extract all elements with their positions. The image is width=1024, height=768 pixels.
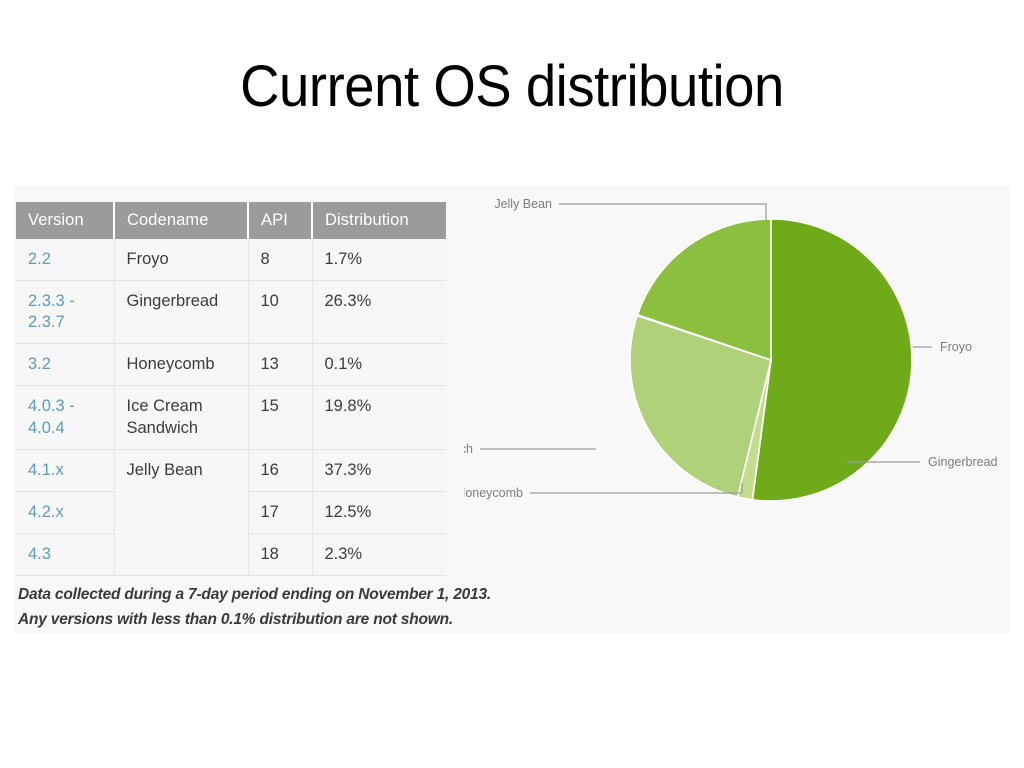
table-row: 2.3.3 - 2.3.7 Gingerbread 10 26.3%	[16, 281, 446, 344]
cell-codename	[114, 533, 248, 575]
cell-distribution: 26.3%	[312, 281, 446, 344]
cell-api: 10	[248, 281, 312, 344]
version-line-1: 4.2.x	[28, 502, 114, 523]
pie-svg: Jelly Bean Ice Cream Sandwich Honeycomb …	[464, 186, 1010, 526]
cell-api: 16	[248, 449, 312, 491]
cell-codename: Froyo	[114, 239, 248, 281]
table-header-row: Version Codename API Distribution	[16, 202, 446, 239]
table-row: 2.2 Froyo 8 1.7%	[16, 239, 446, 281]
cell-version[interactable]: 4.1.x	[16, 449, 114, 491]
footnote-line-1: Data collected during a 7-day period end…	[18, 582, 491, 607]
version-line-1: 4.1.x	[28, 460, 114, 481]
codename-line-1: Ice Cream	[127, 396, 248, 417]
pie-label-honeycomb: Honeycomb	[464, 486, 523, 500]
footnote: Data collected during a 7-day period end…	[18, 582, 491, 632]
distribution-pie-chart: Jelly Bean Ice Cream Sandwich Honeycomb …	[464, 186, 1010, 526]
column-header-api: API	[248, 202, 312, 239]
pie-label-ice-cream-sandwich: Ice Cream Sandwich	[464, 442, 473, 456]
cell-codename: Ice Cream Sandwich	[114, 386, 248, 449]
version-line-1: 3.2	[28, 354, 114, 375]
cell-codename: Jelly Bean	[114, 449, 248, 491]
cell-api: 13	[248, 344, 312, 386]
table-row: 4.3 18 2.3%	[16, 533, 446, 575]
cell-codename	[114, 491, 248, 533]
codename-line-1: Froyo	[127, 249, 248, 270]
cell-api: 15	[248, 386, 312, 449]
codename-line-2: Sandwich	[127, 418, 248, 439]
pie-slice-group	[630, 219, 912, 501]
page-title: Current OS distribution	[31, 58, 994, 116]
cell-distribution: 37.3%	[312, 449, 446, 491]
cell-version[interactable]: 2.3.3 - 2.3.7	[16, 281, 114, 344]
os-distribution-table: Version Codename API Distribution 2.2 Fr…	[16, 202, 446, 576]
cell-version[interactable]: 2.2	[16, 239, 114, 281]
table-header: Version Codename API Distribution	[16, 202, 446, 239]
cell-distribution: 1.7%	[312, 239, 446, 281]
column-header-codename: Codename	[114, 202, 248, 239]
cell-distribution: 19.8%	[312, 386, 446, 449]
cell-api: 17	[248, 491, 312, 533]
table-row: 4.2.x 17 12.5%	[16, 491, 446, 533]
pie-label-gingerbread: Gingerbread	[928, 455, 998, 469]
cell-codename: Gingerbread	[114, 281, 248, 344]
leader-line-jelly-bean	[559, 204, 766, 220]
table-row: 3.2 Honeycomb 13 0.1%	[16, 344, 446, 386]
table-row: 4.0.3 - 4.0.4 Ice Cream Sandwich 15 19.8…	[16, 386, 446, 449]
version-line-1: 2.2	[28, 249, 114, 270]
version-line-1: 4.0.3 -	[28, 396, 114, 417]
version-line-1: 4.3	[28, 544, 114, 565]
codename-line-1: Jelly Bean	[127, 460, 248, 481]
content-panel: Version Codename API Distribution 2.2 Fr…	[14, 186, 1010, 633]
table-body: 2.2 Froyo 8 1.7% 2.3.3 - 2.3.7 Gingerbre…	[16, 239, 446, 575]
cell-distribution: 12.5%	[312, 491, 446, 533]
cell-codename: Honeycomb	[114, 344, 248, 386]
pie-label-jelly-bean: Jelly Bean	[494, 197, 552, 211]
cell-distribution: 0.1%	[312, 344, 446, 386]
cell-api: 18	[248, 533, 312, 575]
cell-version[interactable]: 4.2.x	[16, 491, 114, 533]
pie-slice-jelly-bean[interactable]	[752, 219, 912, 501]
column-header-distribution: Distribution	[312, 202, 446, 239]
cell-version[interactable]: 3.2	[16, 344, 114, 386]
cell-version[interactable]: 4.0.3 - 4.0.4	[16, 386, 114, 449]
codename-line-1: Honeycomb	[127, 354, 248, 375]
version-line-2: 2.3.7	[28, 312, 114, 333]
version-line-1: 2.3.3 -	[28, 291, 114, 312]
table-row: 4.1.x Jelly Bean 16 37.3%	[16, 449, 446, 491]
cell-distribution: 2.3%	[312, 533, 446, 575]
column-header-version: Version	[16, 202, 114, 239]
cell-api: 8	[248, 239, 312, 281]
version-line-2: 4.0.4	[28, 418, 114, 439]
codename-line-1: Gingerbread	[127, 291, 248, 312]
footnote-line-2: Any versions with less than 0.1% distrib…	[18, 607, 491, 632]
pie-label-froyo: Froyo	[940, 340, 972, 354]
cell-version[interactable]: 4.3	[16, 533, 114, 575]
